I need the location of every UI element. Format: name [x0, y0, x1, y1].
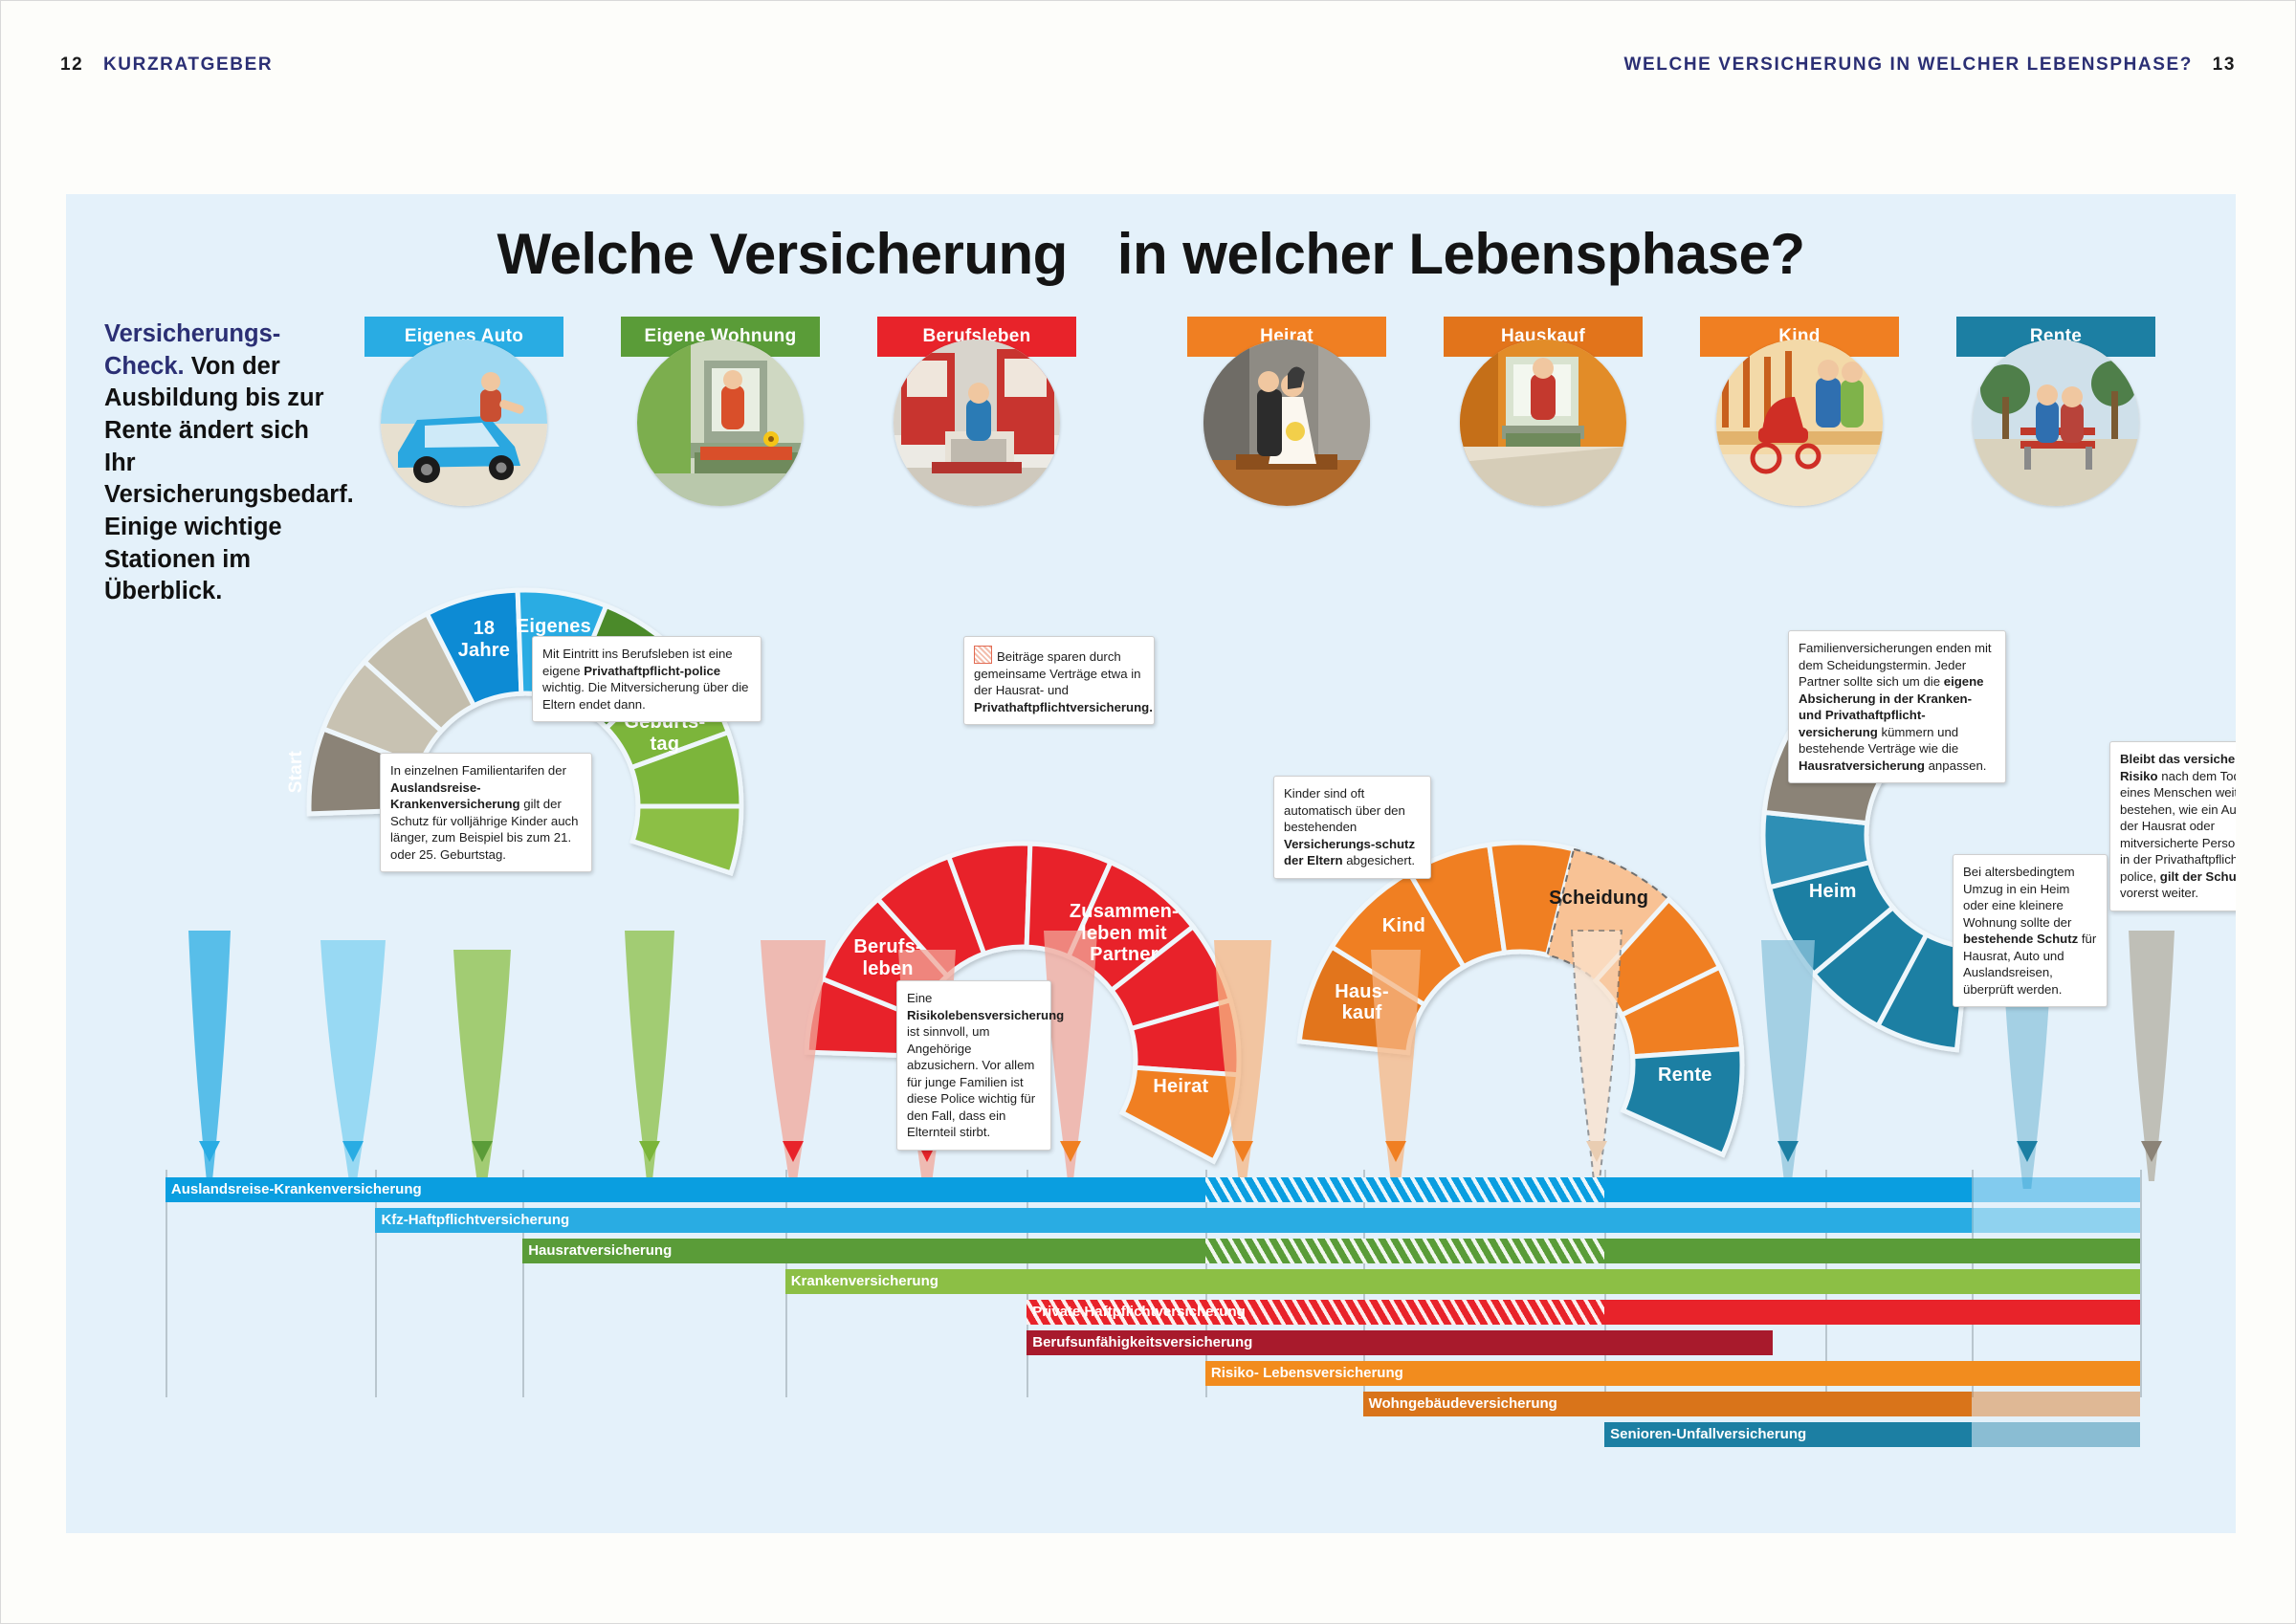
timeline-bar-label: Krankenversicherung	[791, 1273, 938, 1289]
timeline-drop-arrow	[1232, 1141, 1253, 1162]
timeline-bar-hatched	[1205, 1177, 1604, 1202]
title-part-2: in welcher Lebensphase?	[1117, 222, 1805, 286]
timeline-drop-arrow	[1586, 1141, 1607, 1162]
timeline-gridline	[2140, 1170, 2142, 1397]
timeline-bar-tail	[1972, 1422, 2140, 1447]
folio-right: 13	[2213, 55, 2236, 75]
callout-umzug-heim[interactable]: Bei altersbedingtem Umzug in ein Heim od…	[1953, 854, 2108, 1007]
timeline-bar-label: Kfz-Haftpflichtversicherung	[381, 1212, 569, 1228]
timeline-bar-label: Private Haftpflichtversicherung	[1032, 1304, 1246, 1320]
timeline-bar[interactable]: Wohngebäudeversicherung	[1363, 1392, 1973, 1416]
timeline-drop-arrow	[1777, 1141, 1799, 1162]
timeline-drop-arrow	[1385, 1141, 1406, 1162]
callout-risikoleben[interactable]: Eine Risikolebensversicherung ist sinnvo…	[896, 980, 1051, 1151]
timeline-bar-label: Berufsunfähigkeitsversicherung	[1032, 1334, 1252, 1350]
callout-kinder[interactable]: Kinder sind oft automatisch über den bes…	[1273, 776, 1431, 879]
timeline-gridline	[166, 1170, 167, 1397]
timeline-gridline	[375, 1170, 377, 1397]
stage-card-office[interactable]: Berufsleben	[877, 317, 1076, 508]
page-title: Welche Versicherungin welcher Lebensphas…	[66, 221, 2236, 287]
timeline-gridline	[522, 1170, 524, 1397]
running-head-left-text: KURZRATGEBER	[103, 55, 273, 75]
running-head-right-text: WELCHE VERSICHERUNG IN WELCHER LEBENSPHA…	[1624, 55, 2194, 75]
hatch-swatch-icon	[974, 646, 992, 664]
stage-card-wedding[interactable]: Heirat	[1187, 317, 1386, 508]
balcony-photo	[621, 338, 820, 508]
timeline-bar-label: Wohngebäudeversicherung	[1369, 1395, 1557, 1412]
timeline-bar-tail	[1972, 1177, 2140, 1202]
house-photo	[1444, 338, 1643, 508]
coverage-timeline: Auslandsreise-KrankenversicherungKfz-Haf…	[66, 1170, 2236, 1533]
stage-card-house[interactable]: Hauskauf	[1444, 317, 1643, 508]
timeline-drop-arrow	[1060, 1141, 1081, 1162]
callout-beitraege-sparen[interactable]: Beiträge sparen durch gemeinsame Verträg…	[963, 636, 1155, 725]
timeline-drop-arrow	[2141, 1141, 2162, 1162]
stage-card-stroller[interactable]: Kind	[1700, 317, 1899, 508]
callout-tod[interactable]: Bleibt das versicherte Risiko nach dem T…	[2109, 741, 2236, 911]
stage-card-car[interactable]: Eigenes Auto	[364, 317, 563, 508]
timeline-drop-arrow	[199, 1141, 220, 1162]
timeline-bar[interactable]: Kfz-Haftpflichtversicherung	[375, 1208, 1972, 1233]
timeline-bar-label: Hausratversicherung	[528, 1242, 672, 1259]
timeline-drop-arrow	[472, 1141, 493, 1162]
timeline-drop-arrow	[2017, 1141, 2038, 1162]
timeline-bar-label: Senioren-Unfallversicherung	[1610, 1426, 1806, 1442]
bench-photo	[1956, 338, 2155, 508]
timeline-bar[interactable]: Risiko- Lebensversicherung	[1205, 1361, 2140, 1386]
stroller-photo	[1700, 338, 1899, 508]
timeline-drop-arrow	[342, 1141, 364, 1162]
timeline-bar[interactable]: Auslandsreise-Krankenversicherung	[166, 1177, 1973, 1202]
running-head-left: 12 KURZRATGEBER	[60, 55, 273, 76]
timeline-bar-label: Auslandsreise-Krankenversicherung	[171, 1181, 422, 1197]
stage-card-bench[interactable]: Rente	[1956, 317, 2155, 508]
timeline-bar-label: Risiko- Lebensversicherung	[1211, 1365, 1403, 1381]
timeline-bar[interactable]: Berufsunfähigkeitsversicherung	[1027, 1330, 1773, 1355]
callout-privathaftpflicht[interactable]: Mit Eintritt ins Berufsleben ist eine ei…	[532, 636, 762, 722]
stage-card-balcony[interactable]: Eigene Wohnung	[621, 317, 820, 508]
timeline-drop-arrow	[639, 1141, 660, 1162]
timeline-drop-arrow	[783, 1141, 804, 1162]
timeline-bar-tail	[1972, 1392, 2140, 1416]
timeline-bar[interactable]: Senioren-Unfallversicherung	[1604, 1422, 1972, 1447]
office-photo	[877, 338, 1076, 508]
timeline-bar[interactable]: Krankenversicherung	[785, 1269, 2140, 1294]
car-photo	[364, 338, 563, 508]
timeline-bar-tail	[1972, 1208, 2140, 1233]
folio-left: 12	[60, 55, 83, 75]
timeline-bar-hatched	[1205, 1239, 1604, 1263]
callout-auslandsreise[interactable]: In einzelnen Familientarifen der Ausland…	[380, 753, 592, 872]
title-part-1: Welche Versicherung	[497, 222, 1067, 286]
infographic-poster: Welche Versicherungin welcher Lebensphas…	[66, 194, 2236, 1533]
running-head-right: WELCHE VERSICHERUNG IN WELCHER LEBENSPHA…	[1624, 55, 2237, 76]
printed-page-spread: 12 KURZRATGEBER WELCHE VERSICHERUNG IN W…	[0, 0, 2296, 1624]
wedding-photo	[1187, 338, 1386, 508]
callout-scheidung[interactable]: Familienversicherungen enden mit dem Sch…	[1788, 630, 2006, 783]
